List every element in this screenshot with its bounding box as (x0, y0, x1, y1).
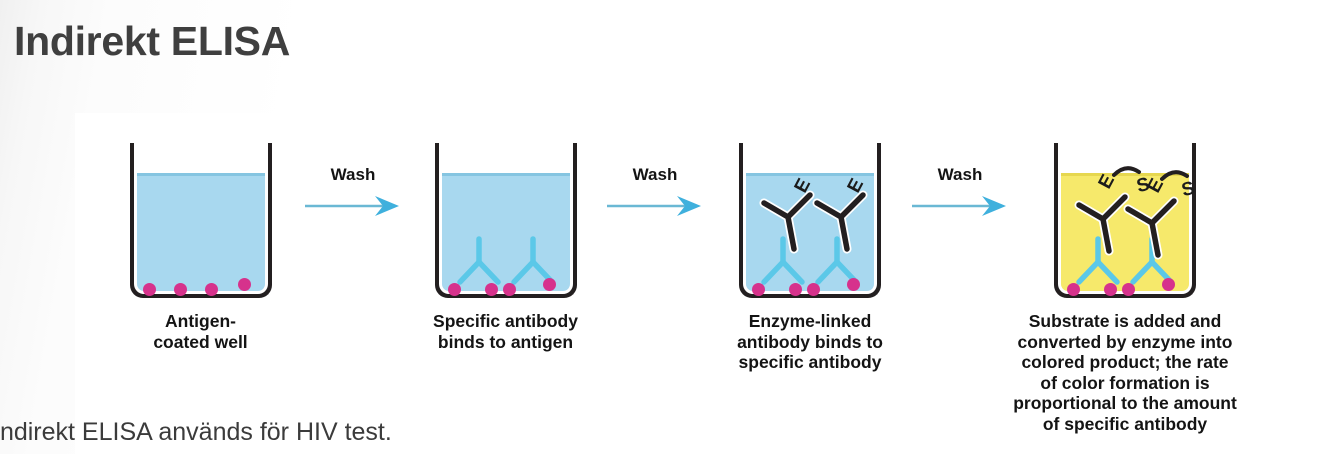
slide-body-text: Indirekt ELISA används för HIV test. (0, 418, 392, 447)
antigen-dot (238, 278, 251, 291)
step-caption-4: Substrate is added and converted by enzy… (995, 311, 1255, 434)
wash-arrow-1: Wash (303, 165, 403, 225)
wash-label: Wash (605, 165, 705, 185)
liquid-surface (137, 173, 265, 176)
elisa-step-2: Specific antibody binds to antigen (408, 113, 603, 454)
wash-arrow-2: Wash (605, 165, 705, 225)
elisa-step-1: Antigen- coated well (103, 113, 298, 454)
caption-line: Enzyme-linked (705, 311, 915, 332)
caption-line: antibody binds to (705, 332, 915, 353)
primary-antibody (453, 236, 505, 292)
caption-line: proportional to the amount (995, 393, 1255, 414)
antigen-dot (543, 278, 556, 291)
step-caption-3: Enzyme-linked antibody binds to specific… (705, 311, 915, 373)
elisa-step-4: E S (995, 113, 1255, 454)
step-caption-2: Specific antibody binds to antigen (408, 311, 603, 352)
step-caption-1: Antigen- coated well (103, 311, 298, 352)
arrow-right-icon (605, 193, 705, 224)
liquid-surface (746, 173, 874, 176)
elisa-step-3: E (705, 113, 915, 454)
wash-label: Wash (303, 165, 403, 185)
caption-line: Substrate is added and (995, 311, 1255, 332)
antigen-dot (485, 283, 498, 296)
antigen-dot (847, 278, 860, 291)
antigen-dot (448, 283, 461, 296)
elisa-diagram: Antigen- coated well Wash (75, 113, 1255, 454)
caption-line: converted by enzyme into (995, 332, 1255, 353)
antigen-dot (1122, 283, 1135, 296)
caption-line: of specific antibody (995, 414, 1255, 435)
antigen-dot (1067, 283, 1080, 296)
antigen-dot (174, 283, 187, 296)
caption-line: coated well (103, 332, 298, 353)
liquid-surface (442, 173, 570, 176)
well-2 (435, 143, 577, 298)
page-title: Indirekt ELISA (14, 18, 290, 65)
well-4: E S (1054, 143, 1196, 298)
antigen-dot (789, 283, 802, 296)
antigen-dot (205, 283, 218, 296)
enzyme-linked-antibody (805, 181, 879, 257)
antigen-dot (1162, 278, 1175, 291)
well-1 (130, 143, 272, 298)
arrow-right-icon (303, 193, 403, 224)
antigen-dot (503, 283, 516, 296)
antigen-dot (143, 283, 156, 296)
slide-canvas: Indirekt ELISA Antigen- coate (0, 0, 1334, 454)
well-liquid (137, 173, 265, 291)
caption-line: Antigen- (103, 311, 298, 332)
antigen-dot (1104, 283, 1117, 296)
well-3: E (739, 143, 881, 298)
enzyme-linked-antibody (1116, 187, 1190, 263)
caption-line: colored product; the rate (995, 352, 1255, 373)
antigen-dot (807, 283, 820, 296)
caption-line: binds to antigen (408, 332, 603, 353)
caption-line: of color formation is (995, 373, 1255, 394)
caption-line: Specific antibody (408, 311, 603, 332)
antigen-dot (752, 283, 765, 296)
caption-line: specific antibody (705, 352, 915, 373)
